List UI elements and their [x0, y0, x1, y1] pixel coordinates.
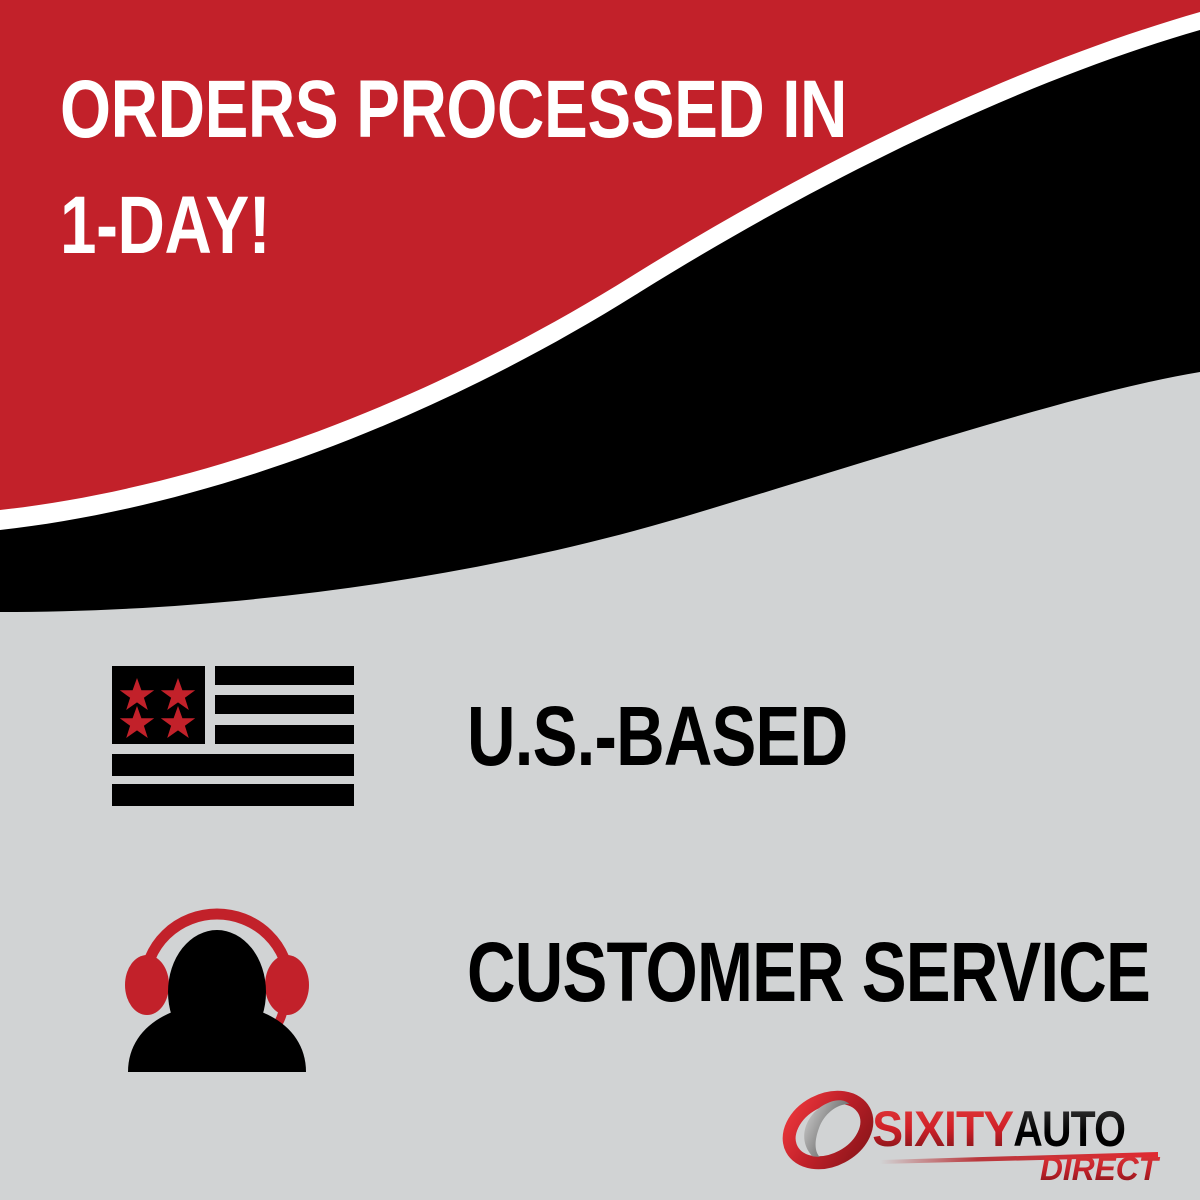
- logo-word-auto: AUTO: [1013, 1102, 1125, 1158]
- flag-stripe-short: [215, 725, 354, 744]
- headline-line-2: 1-DAY!: [60, 168, 780, 284]
- feature-label-customer-service: CUSTOMER SERVICE: [467, 930, 1150, 1014]
- logo-word-direct: DIRECT: [1040, 1150, 1161, 1182]
- feature-icon-customer-service: [112, 872, 467, 1072]
- flag-stripe-short: [215, 666, 354, 685]
- sixity-auto-direct-logo[interactable]: SIXITY AUTO DIRECT Sixity Auto Direct: [782, 1086, 1162, 1182]
- feature-icon-us-based: [112, 666, 467, 806]
- headset-agent-icon: [112, 872, 322, 1072]
- headset-earcup-left: [125, 955, 169, 1015]
- sixity-ring-emblem-icon: [782, 1086, 878, 1176]
- flag-stripe-full: [112, 754, 354, 776]
- flag-star: [120, 678, 154, 710]
- usa-flag-icon: [112, 666, 354, 806]
- headline: ORDERS PROCESSED IN 1-DAY!: [60, 52, 960, 285]
- flag-stars: [112, 666, 205, 744]
- flag-stripe-full: [112, 784, 354, 806]
- feature-label-us-based: U.S.-BASED: [467, 694, 847, 778]
- flag-stripe-short: [215, 695, 354, 714]
- logo-wordmark: SIXITY AUTO: [872, 1102, 1125, 1158]
- headline-line-1: ORDERS PROCESSED IN: [60, 52, 780, 168]
- flag-star: [120, 706, 154, 738]
- feature-row-us-based: U.S.-BASED: [112, 666, 942, 806]
- feature-row-customer-service: CUSTOMER SERVICE: [112, 872, 1200, 1072]
- flag-star: [161, 706, 195, 738]
- logo-word-sixity: SIXITY: [872, 1102, 1014, 1158]
- flag-star: [161, 678, 195, 710]
- promo-card: ORDERS PROCESSED IN 1-DAY!: [0, 0, 1200, 1200]
